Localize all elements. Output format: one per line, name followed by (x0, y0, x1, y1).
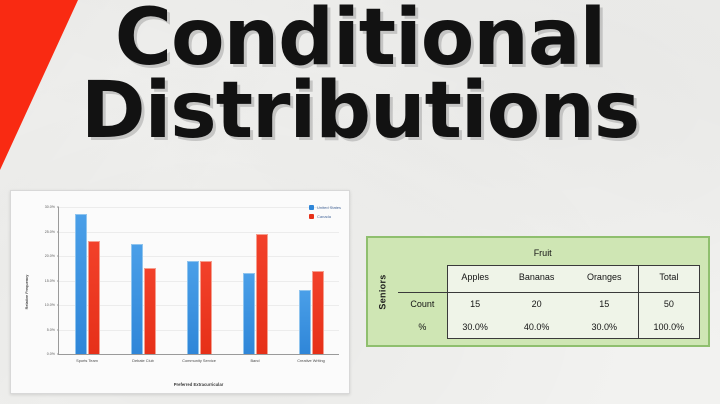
title-line-1: Conditional (0, 2, 720, 75)
table-column-header: Bananas (503, 265, 571, 288)
table-row-group-label: Seniors (368, 238, 398, 345)
chart-bar-group: Debate Club (115, 207, 171, 354)
table-total-spacer (638, 242, 699, 265)
chart-plot-region: 0.0%5.0%10.0%15.0%20.0%25.0%30.0%Sports … (58, 207, 339, 355)
chart-x-tick-label: Band (250, 358, 259, 363)
table-header-row: ApplesBananasOrangesTotal (398, 265, 700, 288)
legend-swatch-icon (309, 214, 314, 219)
chart-y-tick-label: 20.0% (45, 254, 55, 258)
chart-y-tick-label: 15.0% (45, 279, 55, 283)
chart-y-axis-title: Relative Frequency (25, 275, 29, 310)
slide-root: Conditional Distributions Relative Frequ… (0, 0, 720, 404)
table-cell: 30.0% (571, 315, 638, 338)
chart-legend-label: United States (317, 205, 341, 210)
chart-legend-label: Canada (317, 214, 331, 219)
title-line-2: Distributions (0, 75, 720, 148)
conditional-distribution-table: FruitApplesBananasOrangesTotalCount15201… (398, 242, 700, 339)
chart-y-tick-label: 25.0% (45, 230, 55, 234)
table-cell: 15 (447, 292, 502, 315)
table-cell: 20 (503, 292, 571, 315)
chart-y-tick-label: 0.0% (47, 352, 55, 356)
table-cell: 40.0% (503, 315, 571, 338)
chart-legend-item[interactable]: Canada (309, 214, 341, 219)
table-header-corner (398, 265, 447, 288)
chart-bar-us[interactable] (243, 273, 255, 354)
chart-bar-ca[interactable] (200, 261, 212, 354)
chart-bar-us[interactable] (299, 290, 311, 354)
page-title: Conditional Distributions (0, 2, 720, 147)
legend-swatch-icon (309, 205, 314, 210)
chart-bar-us[interactable] (131, 244, 143, 354)
chart-x-tick-label: Creative Writing (297, 358, 325, 363)
chart-bar-us[interactable] (75, 214, 87, 354)
chart-legend-item[interactable]: United States (309, 205, 341, 210)
chart-bar-group: Sports Team (59, 207, 115, 354)
chart-y-tick-label: 5.0% (47, 328, 55, 332)
chart-bar-group: Community Service (171, 207, 227, 354)
two-way-table-panel: Seniors FruitApplesBananasOrangesTotalCo… (366, 236, 710, 347)
chart-x-tick-label: Sports Team (76, 358, 98, 363)
chart-x-axis-title: Preferred Extracurricular (58, 382, 339, 387)
table-total-header: Total (638, 265, 699, 288)
chart-x-tick-label: Community Service (182, 358, 216, 363)
table-row: %30.0%40.0%30.0%100.0% (398, 315, 700, 338)
seniors-text: Seniors (378, 274, 388, 309)
chart-y-tick-label: 10.0% (45, 303, 55, 307)
chart-y-tick-label: 30.0% (45, 205, 55, 209)
table-cell: 15 (571, 292, 638, 315)
table-row-label: Count (398, 292, 447, 315)
chart-bar-group: Creative Writing (283, 207, 339, 354)
chart-bar-us[interactable] (187, 261, 199, 354)
chart-bar-group: Band (227, 207, 283, 354)
chart-bar-ca[interactable] (256, 234, 268, 354)
table-total-cell: 50 (638, 292, 699, 315)
table-column-group-label: Fruit (447, 242, 638, 265)
chart-plot-area: 0.0%5.0%10.0%15.0%20.0%25.0%30.0%Sports … (58, 207, 339, 355)
table-column-header: Apples (447, 265, 502, 288)
chart-x-tick-label: Debate Club (132, 358, 154, 363)
chart-bar-ca[interactable] (88, 241, 100, 354)
chart-bar-ca[interactable] (144, 268, 156, 354)
table-cell: 30.0% (447, 315, 502, 338)
table-total-cell: 100.0% (638, 315, 699, 338)
table-row-label: % (398, 315, 447, 338)
table-row: Count15201550 (398, 292, 700, 315)
bar-chart-card: Relative Frequency 0.0%5.0%10.0%15.0%20.… (10, 190, 350, 394)
chart-bar-ca[interactable] (312, 271, 324, 354)
table-group-header-row: Fruit (398, 242, 700, 265)
chart-legend: United StatesCanada (309, 205, 341, 219)
table-column-header: Oranges (571, 265, 638, 288)
table-corner-spacer (398, 242, 447, 265)
